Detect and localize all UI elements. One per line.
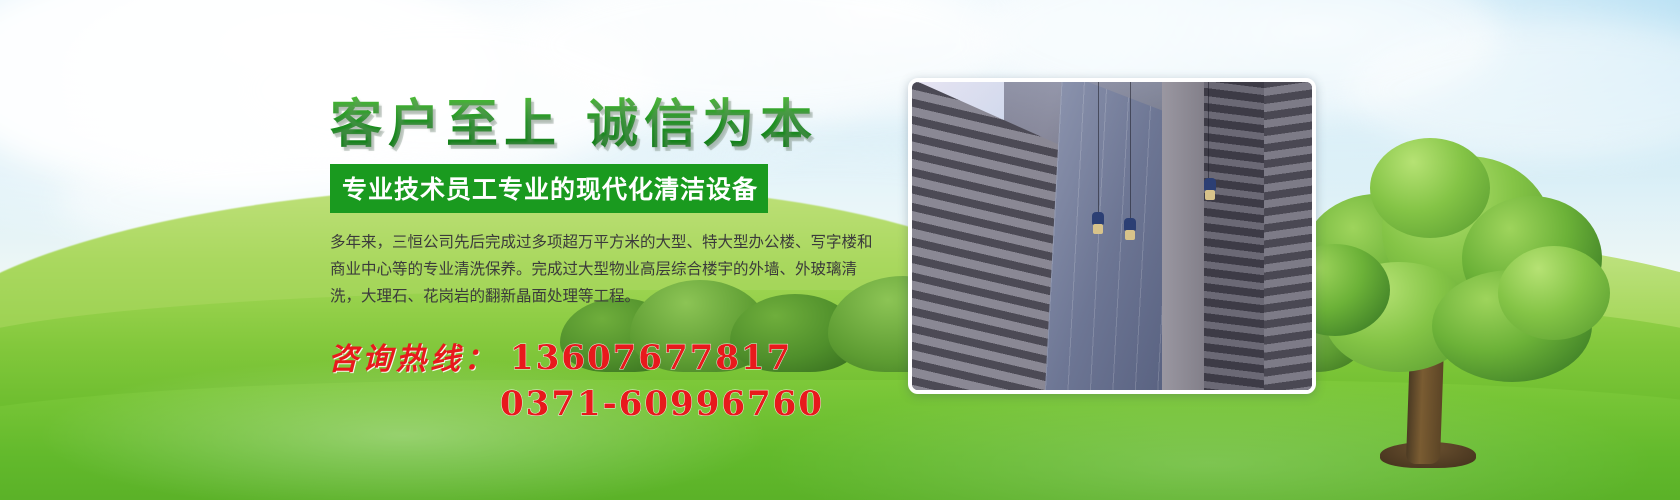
phone-secondary[interactable]: 0371-60996760 xyxy=(500,384,902,424)
tree-illustration xyxy=(1262,134,1622,464)
building-photo xyxy=(912,82,1312,390)
description-paragraph: 多年来，三恒公司先后完成过多项超万平方米的大型、特大型办公楼、写字楼和商业中心等… xyxy=(330,229,878,310)
hotline-label: 咨询热线： xyxy=(328,342,498,377)
phone-primary[interactable]: 13607677817 xyxy=(510,338,792,378)
promo-banner: 客户至上 诚信为本 客户至上 诚信为本 专业技术员工专业的现代化清洁设备 多年来… xyxy=(0,0,1680,500)
rope-line xyxy=(1130,82,1131,238)
facade-far-right xyxy=(1264,82,1312,390)
page-title: 客户至上 诚信为本 xyxy=(330,96,902,153)
rope-line xyxy=(1098,82,1099,230)
hotline-block: 咨询热线：13607677817 0371-60996760 xyxy=(328,334,902,424)
subtitle-bar: 专业技术员工专业的现代化清洁设备 xyxy=(330,164,768,213)
worker-figure xyxy=(1124,218,1136,240)
building-photo-frame xyxy=(908,78,1316,394)
worker-figure xyxy=(1204,178,1216,200)
banner-copy: 客户至上 诚信为本 客户至上 诚信为本 专业技术员工专业的现代化清洁设备 多年来… xyxy=(322,96,902,424)
worker-figure xyxy=(1092,212,1104,234)
headline-wrap: 客户至上 诚信为本 客户至上 诚信为本 xyxy=(322,96,902,160)
